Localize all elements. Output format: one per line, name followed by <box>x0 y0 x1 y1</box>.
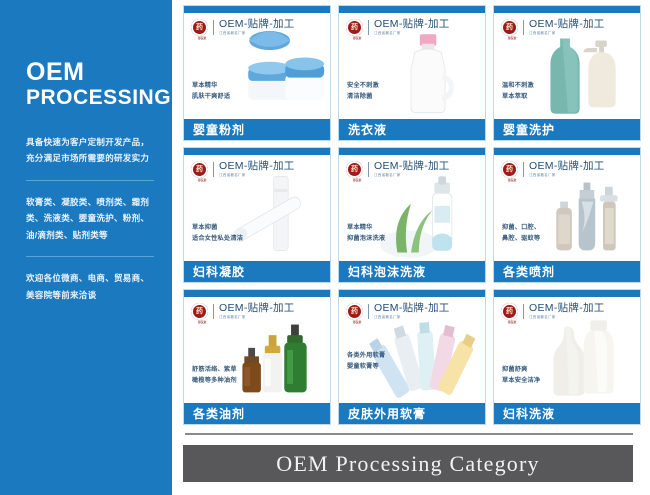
header-divider <box>368 304 369 319</box>
card-brand-header: 药 御医堂 OEM-贴牌-加工 江西省著名厂家 <box>191 303 295 320</box>
header-main-text: OEM-贴牌-加工 <box>374 19 450 30</box>
card-description: 安全不刺激 清洁除菌 <box>347 81 379 103</box>
brand-logo-subtext: 御医堂 <box>191 36 213 40</box>
card-top-accent-bar <box>494 290 640 297</box>
card-brand-header: 药 御医堂 OEM-贴牌-加工 江西省著名厂家 <box>501 161 605 178</box>
header-sub-text: 江西省著名厂家 <box>529 32 605 36</box>
header-divider <box>213 304 214 319</box>
card-body: 药 御医堂 OEM-贴牌-加工 江西省著名厂家 <box>339 155 485 261</box>
card-label: 婴童洗护 <box>494 119 640 140</box>
brand-logo-subtext: 御医堂 <box>191 320 213 324</box>
brand-logo-subtext: 御医堂 <box>346 178 368 182</box>
brand-logo-icon: 药 御医堂 <box>346 19 363 36</box>
title-line-1: OEM <box>26 58 156 86</box>
header-sub-text: 江西省著名厂家 <box>374 174 450 178</box>
header-divider <box>368 20 369 35</box>
card-top-accent-bar <box>339 148 485 155</box>
card-top-accent-bar <box>494 6 640 13</box>
header-sub-text: 江西省著名厂家 <box>219 316 295 320</box>
card-description: 各类外用软膏 婴童软膏等 <box>347 351 385 373</box>
card-brand-header: 药 御医堂 OEM-贴牌-加工 江西省著名厂家 <box>346 303 450 320</box>
card-description: 温和不刺激 草本萃取 <box>502 81 534 103</box>
header-divider <box>523 20 524 35</box>
header-divider <box>523 162 524 177</box>
header-main-text: OEM-贴牌-加工 <box>529 19 605 30</box>
card-top-accent-bar <box>339 6 485 13</box>
product-card-baby-care[interactable]: 药 御医堂 OEM-贴牌-加工 江西省著名厂家 <box>493 5 641 141</box>
brand-logo-icon: 药 御医堂 <box>501 161 518 178</box>
card-body: 药 御医堂 OEM-贴牌-加工 江西省著名厂家 <box>184 13 330 119</box>
header-text-block: OEM-贴牌-加工 江西省著名厂家 <box>529 161 605 177</box>
header-main-text: OEM-贴牌-加工 <box>374 161 450 172</box>
header-divider <box>523 304 524 319</box>
brand-logo-subtext: 御医堂 <box>191 178 213 182</box>
brand-logo-subtext: 御医堂 <box>501 320 523 324</box>
card-label: 妇科凝胶 <box>184 261 330 282</box>
card-top-accent-bar <box>184 6 330 13</box>
card-top-accent-bar <box>339 290 485 297</box>
header-text-block: OEM-贴牌-加工 江西省著名厂家 <box>219 19 295 35</box>
header-divider <box>213 20 214 35</box>
product-card-gynecological-gel[interactable]: 药 御医堂 OEM-贴牌-加工 江西省著名厂家 <box>183 147 331 283</box>
card-top-accent-bar <box>184 290 330 297</box>
brand-logo-icon: 药 御医堂 <box>191 19 208 36</box>
header-main-text: OEM-贴牌-加工 <box>219 303 295 314</box>
card-label: 妇科洗液 <box>494 403 640 424</box>
card-body: 药 御医堂 OEM-贴牌-加工 江西省著名厂家 安全不刺激 清洁除菌 <box>339 13 485 119</box>
banner-text: OEM Processing Category <box>183 445 633 482</box>
product-card-laundry-detergent[interactable]: 药 御医堂 OEM-贴牌-加工 江西省著名厂家 安全不刺激 清洁除菌 洗 <box>338 5 486 141</box>
card-brand-header: 药 御医堂 OEM-贴牌-加工 江西省著名厂家 <box>501 303 605 320</box>
card-body: 药 御医堂 OEM-贴牌-加工 江西省著名厂家 <box>339 297 485 403</box>
brand-logo-subtext: 御医堂 <box>346 320 368 324</box>
header-text-block: OEM-贴牌-加工 江西省著名厂家 <box>529 19 605 35</box>
product-card-powder[interactable]: 药 御医堂 OEM-贴牌-加工 江西省著名厂家 <box>183 5 331 141</box>
header-text-block: OEM-贴牌-加工 江西省著名厂家 <box>374 161 450 177</box>
header-main-text: OEM-贴牌-加工 <box>529 161 605 172</box>
panel-paragraph-invitation: 欢迎各位微商、电商、贸易商、美容院等前来洽谈 <box>26 270 156 303</box>
card-body: 药 御医堂 OEM-贴牌-加工 江西省著名厂家 <box>184 297 330 403</box>
panel-paragraph-categories: 软膏类、凝胶类、喷剂类、霜剂类、洗液类、婴童洗护、粉剂、油/滴剂类、贴剂类等 <box>26 194 156 244</box>
card-body: 药 御医堂 OEM-贴牌-加工 江西省著名厂家 <box>494 13 640 119</box>
panel-divider-2 <box>26 256 154 257</box>
card-description: 舒筋活络、紫草 橄榄等多种油剂 <box>192 365 237 387</box>
header-sub-text: 江西省著名厂家 <box>529 174 605 178</box>
header-text-block: OEM-贴牌-加工 江西省著名厂家 <box>529 303 605 319</box>
product-card-ointments[interactable]: 药 御医堂 OEM-贴牌-加工 江西省著名厂家 <box>338 289 486 425</box>
card-label: 各类油剂 <box>184 403 330 424</box>
product-card-sprays[interactable]: 药 御医堂 OEM-贴牌-加工 江西省著名厂家 <box>493 147 641 283</box>
brand-logo-subtext: 御医堂 <box>346 36 368 40</box>
panel-paragraph-capability: 具备快速为客户定制开发产品，充分满足市场所需要的研发实力 <box>26 134 156 167</box>
header-text-block: OEM-贴牌-加工 江西省著名厂家 <box>219 161 295 177</box>
card-brand-header: 药 御医堂 OEM-贴牌-加工 江西省著名厂家 <box>346 161 450 178</box>
panel-divider-1 <box>26 180 154 181</box>
header-sub-text: 江西省著名厂家 <box>374 32 450 36</box>
left-info-panel: OEM PROCESSING 具备快速为客户定制开发产品，充分满足市场所需要的研… <box>0 0 172 495</box>
header-main-text: OEM-贴牌-加工 <box>219 161 295 172</box>
title-line-2: PROCESSING <box>26 86 156 110</box>
header-sub-text: 江西省著名厂家 <box>529 316 605 320</box>
card-label: 皮肤外用软膏 <box>339 403 485 424</box>
header-main-text: OEM-贴牌-加工 <box>374 303 450 314</box>
card-description: 草本精华 抑菌泡沫洗液 <box>347 223 385 245</box>
brand-logo-icon: 药 御医堂 <box>501 19 518 36</box>
header-sub-text: 江西省著名厂家 <box>219 32 295 36</box>
card-brand-header: 药 御医堂 OEM-贴牌-加工 江西省著名厂家 <box>191 161 295 178</box>
brand-logo-subtext: 御医堂 <box>501 178 523 182</box>
card-label: 洗衣液 <box>339 119 485 140</box>
product-card-oils[interactable]: 药 御医堂 OEM-贴牌-加工 江西省著名厂家 <box>183 289 331 425</box>
banner-top-rule <box>185 433 633 435</box>
card-description: 草本精华 肌肤干爽舒适 <box>192 81 230 103</box>
product-card-gynecological-wash[interactable]: 药 御医堂 OEM-贴牌-加工 江西省著名厂家 抑菌舒爽 草本安全洁 <box>493 289 641 425</box>
header-sub-text: 江西省著名厂家 <box>219 174 295 178</box>
brand-logo-icon: 药 御医堂 <box>191 303 208 320</box>
page-title: OEM PROCESSING <box>26 58 156 110</box>
header-main-text: OEM-贴牌-加工 <box>529 303 605 314</box>
brand-logo-icon: 药 御医堂 <box>501 303 518 320</box>
card-body: 药 御医堂 OEM-贴牌-加工 江西省著名厂家 <box>494 155 640 261</box>
header-main-text: OEM-贴牌-加工 <box>219 19 295 30</box>
card-description: 抑菌、口腔、 鼻腔、驱蚊等 <box>502 223 540 245</box>
card-label: 婴童粉剂 <box>184 119 330 140</box>
card-label: 妇科泡沫洗液 <box>339 261 485 282</box>
bottom-banner: OEM Processing Category <box>183 445 633 482</box>
card-brand-header: 药 御医堂 OEM-贴牌-加工 江西省著名厂家 <box>191 19 295 36</box>
card-top-accent-bar <box>184 148 330 155</box>
header-text-block: OEM-贴牌-加工 江西省著名厂家 <box>374 19 450 35</box>
product-category-grid: 药 御医堂 OEM-贴牌-加工 江西省著名厂家 <box>183 5 641 425</box>
product-card-foam-wash[interactable]: 药 御医堂 OEM-贴牌-加工 江西省著名厂家 <box>338 147 486 283</box>
card-brand-header: 药 御医堂 OEM-贴牌-加工 江西省著名厂家 <box>501 19 605 36</box>
card-description: 抑菌舒爽 草本安全洁净 <box>502 365 540 387</box>
header-divider <box>213 162 214 177</box>
card-body: 药 御医堂 OEM-贴牌-加工 江西省著名厂家 抑菌舒爽 草本安全洁 <box>494 297 640 403</box>
card-label: 各类喷剂 <box>494 261 640 282</box>
header-text-block: OEM-贴牌-加工 江西省著名厂家 <box>219 303 295 319</box>
header-text-block: OEM-贴牌-加工 江西省著名厂家 <box>374 303 450 319</box>
brand-logo-icon: 药 御医堂 <box>346 303 363 320</box>
card-body: 药 御医堂 OEM-贴牌-加工 江西省著名厂家 <box>184 155 330 261</box>
header-divider <box>368 162 369 177</box>
brand-logo-icon: 药 御医堂 <box>346 161 363 178</box>
card-top-accent-bar <box>494 148 640 155</box>
card-description: 草本抑菌 适合女性私处清洁 <box>192 223 243 245</box>
header-sub-text: 江西省著名厂家 <box>374 316 450 320</box>
brand-logo-subtext: 御医堂 <box>501 36 523 40</box>
brand-logo-icon: 药 御医堂 <box>191 161 208 178</box>
card-brand-header: 药 御医堂 OEM-贴牌-加工 江西省著名厂家 <box>346 19 450 36</box>
